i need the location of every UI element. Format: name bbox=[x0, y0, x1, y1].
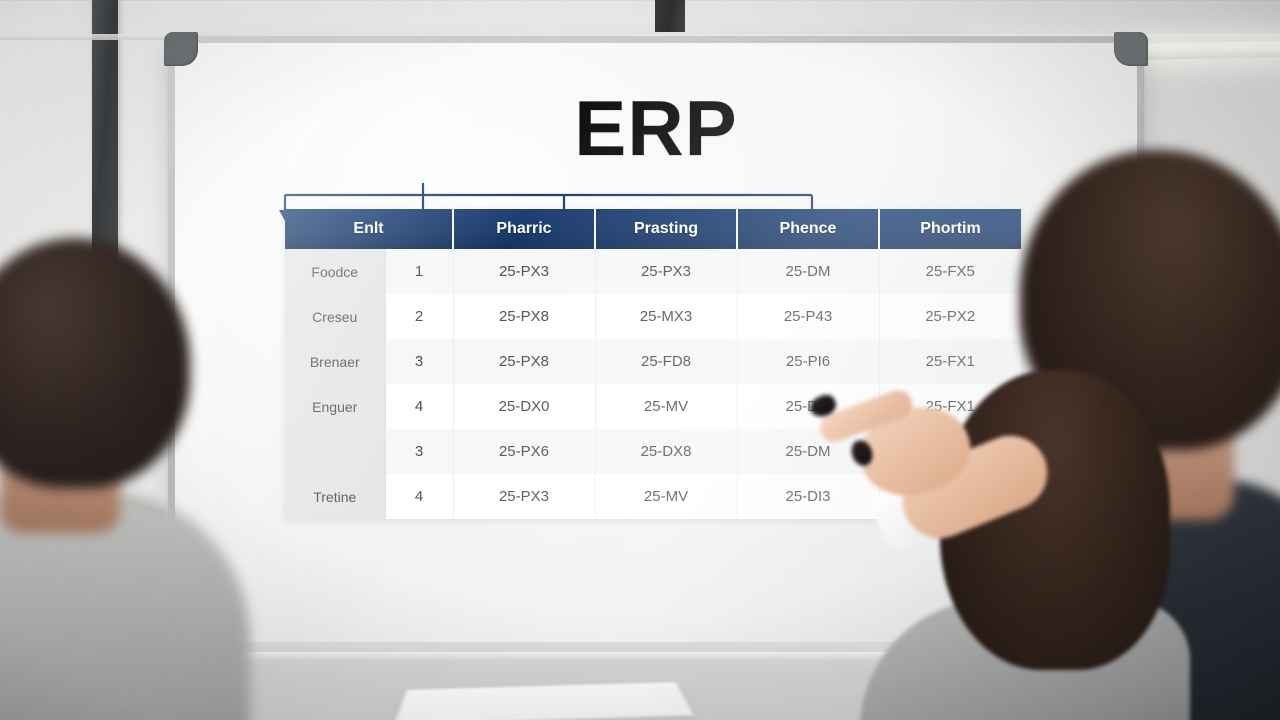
table-cell: 25-DM bbox=[737, 384, 879, 429]
wall-dark-accent bbox=[655, 0, 685, 32]
table-cell: 25-FX5 bbox=[879, 249, 1021, 294]
table-cell: 25-P43 bbox=[737, 294, 879, 339]
table-header: Enlt Pharric Prasting Phence Phortim bbox=[285, 209, 1021, 249]
table-cell: 25-FX1 bbox=[879, 384, 1021, 429]
plant-leaf bbox=[67, 552, 128, 597]
meeting-room-scene: ERP bbox=[0, 0, 1280, 720]
frame-corner-top-right bbox=[1114, 32, 1148, 66]
table-header-row: Enlt Pharric Prasting Phence Phortim bbox=[285, 209, 1021, 249]
table-row[interactable]: Brenaer325-PX825-FD825-PI625-FX1 bbox=[285, 339, 1021, 384]
row-label: Creseu bbox=[285, 294, 385, 339]
table-cell: 25-DX0 bbox=[453, 384, 595, 429]
table-cell: 25-PX3 bbox=[453, 474, 595, 519]
wall-seam bbox=[0, 0, 1280, 1]
table-cell: 25-DM bbox=[737, 429, 879, 474]
column-header-1[interactable]: Pharric bbox=[453, 209, 595, 249]
table-cell: 25-PX2 bbox=[879, 294, 1021, 339]
table-row[interactable]: 325-PX625-DX825-DM25-DX0 bbox=[285, 429, 1021, 474]
row-number: 3 bbox=[385, 429, 453, 474]
desk-edge bbox=[0, 652, 1280, 660]
wall-pillar bbox=[92, 0, 118, 296]
potted-plant bbox=[62, 472, 182, 602]
data-table: Enlt Pharric Prasting Phence Phortim Foo… bbox=[285, 209, 1021, 519]
table-cell: 25-DX2 bbox=[879, 474, 1021, 519]
table-cell: 25-PI6 bbox=[737, 339, 879, 384]
row-number: 4 bbox=[385, 384, 453, 429]
table-cell: 25-MV bbox=[595, 474, 737, 519]
column-header-4[interactable]: Phortim bbox=[879, 209, 1021, 249]
column-header-0[interactable]: Enlt bbox=[285, 209, 453, 249]
row-label: Enguer bbox=[285, 384, 385, 429]
whiteboard: ERP bbox=[168, 36, 1144, 666]
row-label: Brenaer bbox=[285, 339, 385, 384]
row-number: 3 bbox=[385, 339, 453, 384]
table-row[interactable]: Enguer425-DX025-MV25-DM25-FX1 bbox=[285, 384, 1021, 429]
column-header-3[interactable]: Phence bbox=[737, 209, 879, 249]
table-cell: 25-FX1 bbox=[879, 339, 1021, 384]
table-cell: 25-PX8 bbox=[453, 339, 595, 384]
page-title: ERP bbox=[175, 89, 1137, 167]
table-cell: 25-DX8 bbox=[595, 429, 737, 474]
whiteboard-content: ERP bbox=[175, 43, 1137, 659]
row-number: 4 bbox=[385, 474, 453, 519]
table-row[interactable]: Foodce125-PX325-PX325-DM25-FX5 bbox=[285, 249, 1021, 294]
table-cell: 25-DM bbox=[737, 249, 879, 294]
table-cell: 25-DX0 bbox=[879, 429, 1021, 474]
table-cell: 25-FD8 bbox=[595, 339, 737, 384]
table-row[interactable]: Tretine425-PX325-MV25-DI325-DX2 bbox=[285, 474, 1021, 519]
table-cell: 25-MV bbox=[595, 384, 737, 429]
row-number: 1 bbox=[385, 249, 453, 294]
row-label bbox=[285, 429, 385, 474]
table-cell: 25-PX3 bbox=[595, 249, 737, 294]
row-number: 2 bbox=[385, 294, 453, 339]
table-cell: 25-PX3 bbox=[453, 249, 595, 294]
data-table-wrapper: Enlt Pharric Prasting Phence Phortim Foo… bbox=[285, 209, 1021, 519]
table-cell: 25-DI3 bbox=[737, 474, 879, 519]
table-cell: 25-PX8 bbox=[453, 294, 595, 339]
row-label: Foodce bbox=[285, 249, 385, 294]
frame-corner-top-left bbox=[164, 32, 198, 66]
row-label: Tretine bbox=[285, 474, 385, 519]
table-row[interactable]: Creseu225-PX825-MX325-P4325-PX2 bbox=[285, 294, 1021, 339]
table-body: Foodce125-PX325-PX325-DM25-FX5Creseu225-… bbox=[285, 249, 1021, 519]
table-cell: 25-PX6 bbox=[453, 429, 595, 474]
table-cell: 25-MX3 bbox=[595, 294, 737, 339]
column-header-2[interactable]: Prasting bbox=[595, 209, 737, 249]
